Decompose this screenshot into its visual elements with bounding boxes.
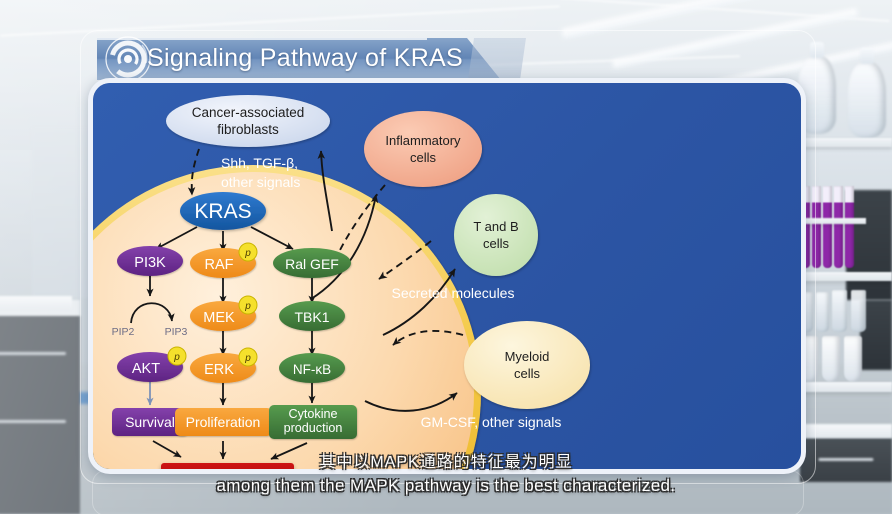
erk-phospho-badge: p [244, 353, 251, 364]
left-bench [0, 300, 80, 514]
inflammatory-label-line1: Inflammatory [385, 133, 461, 148]
test-tube [845, 186, 854, 268]
akt-label: AKT [132, 361, 160, 377]
node-inflammatory-cells: Inflammatory cells [364, 111, 482, 187]
kras-label: KRAS [194, 200, 251, 223]
shh-tgfb-line1: Shh, TGF-β, [221, 155, 298, 171]
akt-phospho-badge: p [173, 352, 180, 363]
raf-label: RAF [205, 257, 234, 273]
pip2-label: PIP2 [112, 326, 135, 338]
survival-label: Survival [125, 414, 175, 430]
node-cytokine-production: Cytokine production [269, 405, 357, 439]
node-cancer-associated-fibroblasts: Cancer-associated fibroblasts [166, 95, 330, 147]
ralgef-label: Ral GEF [285, 256, 339, 272]
raf-phospho-badge: p [244, 248, 251, 259]
cytokine-label-line1: Cytokine [289, 407, 338, 421]
node-kras: KRAS [180, 192, 266, 230]
test-tube [812, 186, 821, 268]
node-ral-gef: Ral GEF [273, 248, 351, 278]
proliferation-label: Proliferation [186, 414, 261, 430]
kras-pathway-diagram: Cancer-associated fibroblasts Inflammato… [93, 83, 801, 469]
erk-label: ERK [204, 362, 234, 378]
beaker [816, 292, 829, 332]
node-proliferation: Proliferation [175, 408, 272, 436]
glass-bottle [848, 62, 886, 138]
pi3k-label: PI3K [134, 255, 166, 271]
screen: Signaling Pathway of KRAS [0, 0, 892, 514]
test-tube [823, 186, 832, 268]
erlenmeyer-flask [844, 336, 862, 382]
nfkb-label: NF-κB [293, 362, 331, 377]
beaker [851, 290, 866, 332]
tandb-label-line2: cells [483, 236, 510, 251]
node-pi3k: PI3K [117, 246, 183, 276]
diagram-panel: Cancer-associated fibroblasts Inflammato… [88, 78, 806, 474]
annotation-secreted-molecules: Secreted molecules [392, 285, 515, 301]
mek-phospho-badge: p [244, 301, 251, 312]
inflammatory-label-line2: cells [410, 150, 437, 165]
caf-label-line1: Cancer-associated [192, 105, 305, 120]
mek-label: MEK [203, 310, 235, 326]
tandb-label-line1: T and B [473, 219, 518, 234]
myeloid-label-line1: Myeloid [505, 349, 550, 364]
node-nfkb: NF-κB [279, 353, 345, 383]
tbk1-label: TBK1 [294, 309, 329, 325]
node-myeloid-cells: Myeloid cells [464, 321, 590, 409]
caf-label-line2: fibroblasts [217, 122, 279, 137]
beaker [832, 290, 847, 332]
shh-tgfb-line2: other signals [221, 174, 300, 190]
cytokine-label-line2: production [284, 421, 343, 435]
myeloid-label-line2: cells [514, 366, 541, 381]
pip3-label: PIP3 [165, 326, 188, 338]
test-tube [834, 186, 843, 268]
node-t-and-b-cells: T and B cells [454, 194, 538, 276]
annotation-gm-csf: GM-CSF, other signals [421, 414, 562, 430]
node-tbk1: TBK1 [279, 301, 345, 331]
erlenmeyer-flask [822, 336, 840, 382]
node-malignancy-box: Malignancy [161, 463, 294, 469]
malignancy-label: Malignancy [190, 468, 266, 470]
